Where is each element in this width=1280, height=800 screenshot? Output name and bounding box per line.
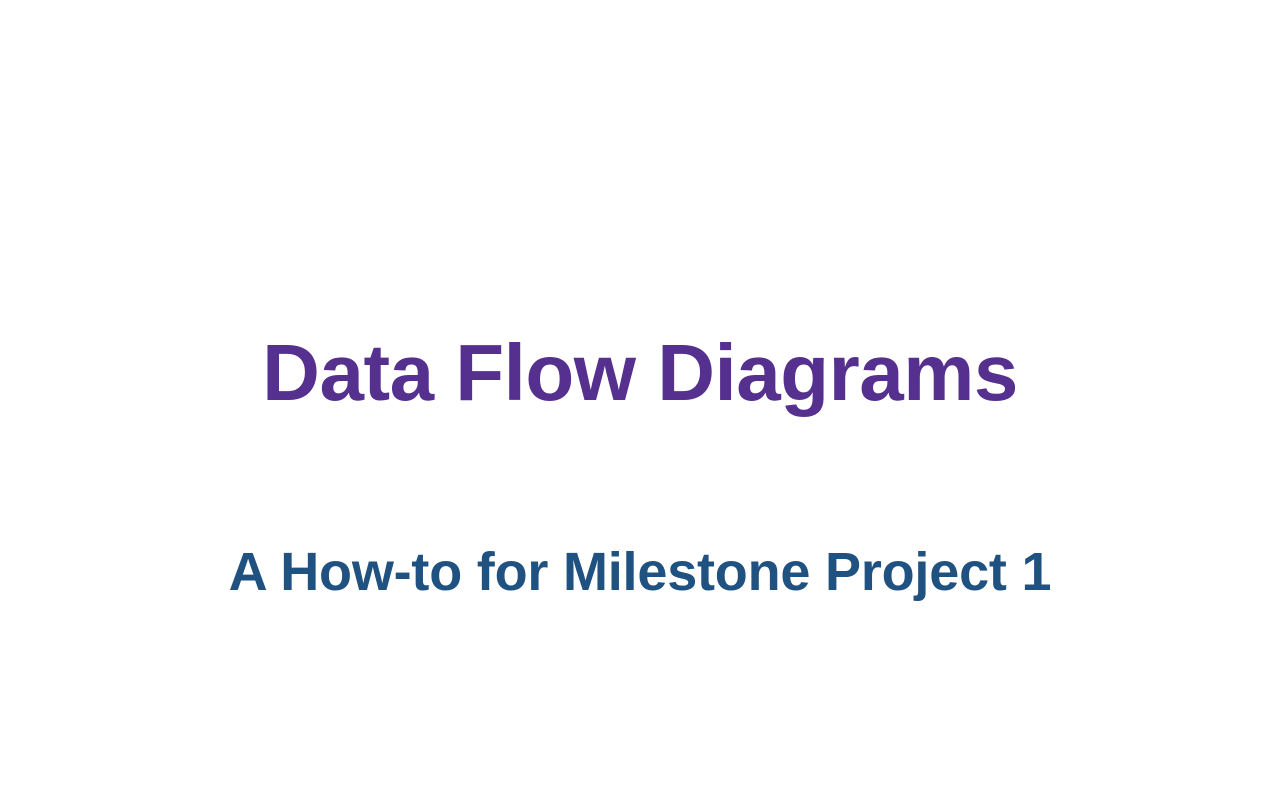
- slide-subtitle: A How-to for Milestone Project 1: [0, 536, 1280, 608]
- slide-content: Data Flow Diagrams A How-to for Mileston…: [0, 0, 1280, 800]
- slide-title: Data Flow Diagrams: [0, 325, 1280, 421]
- subtitle-block: A How-to for Milestone Project 1: [0, 536, 1280, 608]
- title-slide: Data Flow Diagrams A How-to for Mileston…: [0, 0, 1280, 800]
- title-block: Data Flow Diagrams: [0, 325, 1280, 421]
